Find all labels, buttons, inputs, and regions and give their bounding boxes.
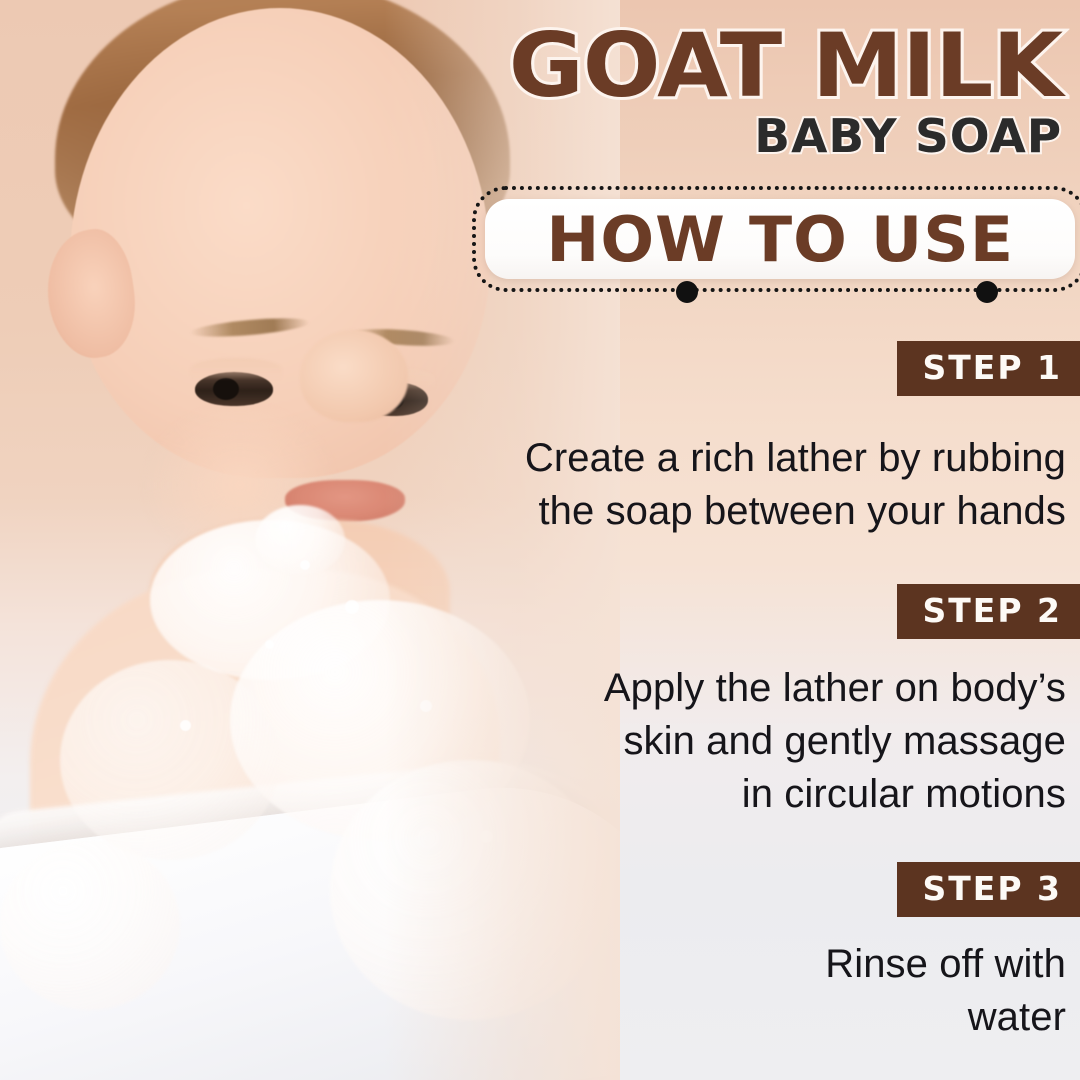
dot-marker-left-icon	[676, 281, 698, 303]
how-to-use-banner: HOW TO USE	[472, 186, 1080, 304]
step-2-badge: STEP 2	[897, 584, 1080, 639]
step-3-instruction: Rinse off with water	[766, 938, 1066, 1044]
product-line-title: GOAT MILK	[509, 26, 1062, 107]
promo-poster: GOAT MILK BABY SOAP HOW TO USE STEP 1 Cr…	[0, 0, 1080, 1080]
step-2-instruction: Apply the lather on body’s skin and gent…	[566, 662, 1066, 820]
how-to-use-card: HOW TO USE	[485, 199, 1075, 279]
how-to-use-label: HOW TO USE	[546, 203, 1014, 276]
product-title-block: GOAT MILK BABY SOAP	[530, 26, 1062, 159]
step-1-instruction: Create a rich lather by rubbing the soap…	[486, 432, 1066, 538]
content-column: GOAT MILK BABY SOAP HOW TO USE STEP 1 Cr…	[460, 0, 1080, 1080]
step-1-badge: STEP 1	[897, 341, 1080, 396]
dot-marker-right-icon	[976, 281, 998, 303]
step-3-badge: STEP 3	[897, 862, 1080, 917]
product-type-subtitle: BABY SOAP	[519, 113, 1062, 159]
